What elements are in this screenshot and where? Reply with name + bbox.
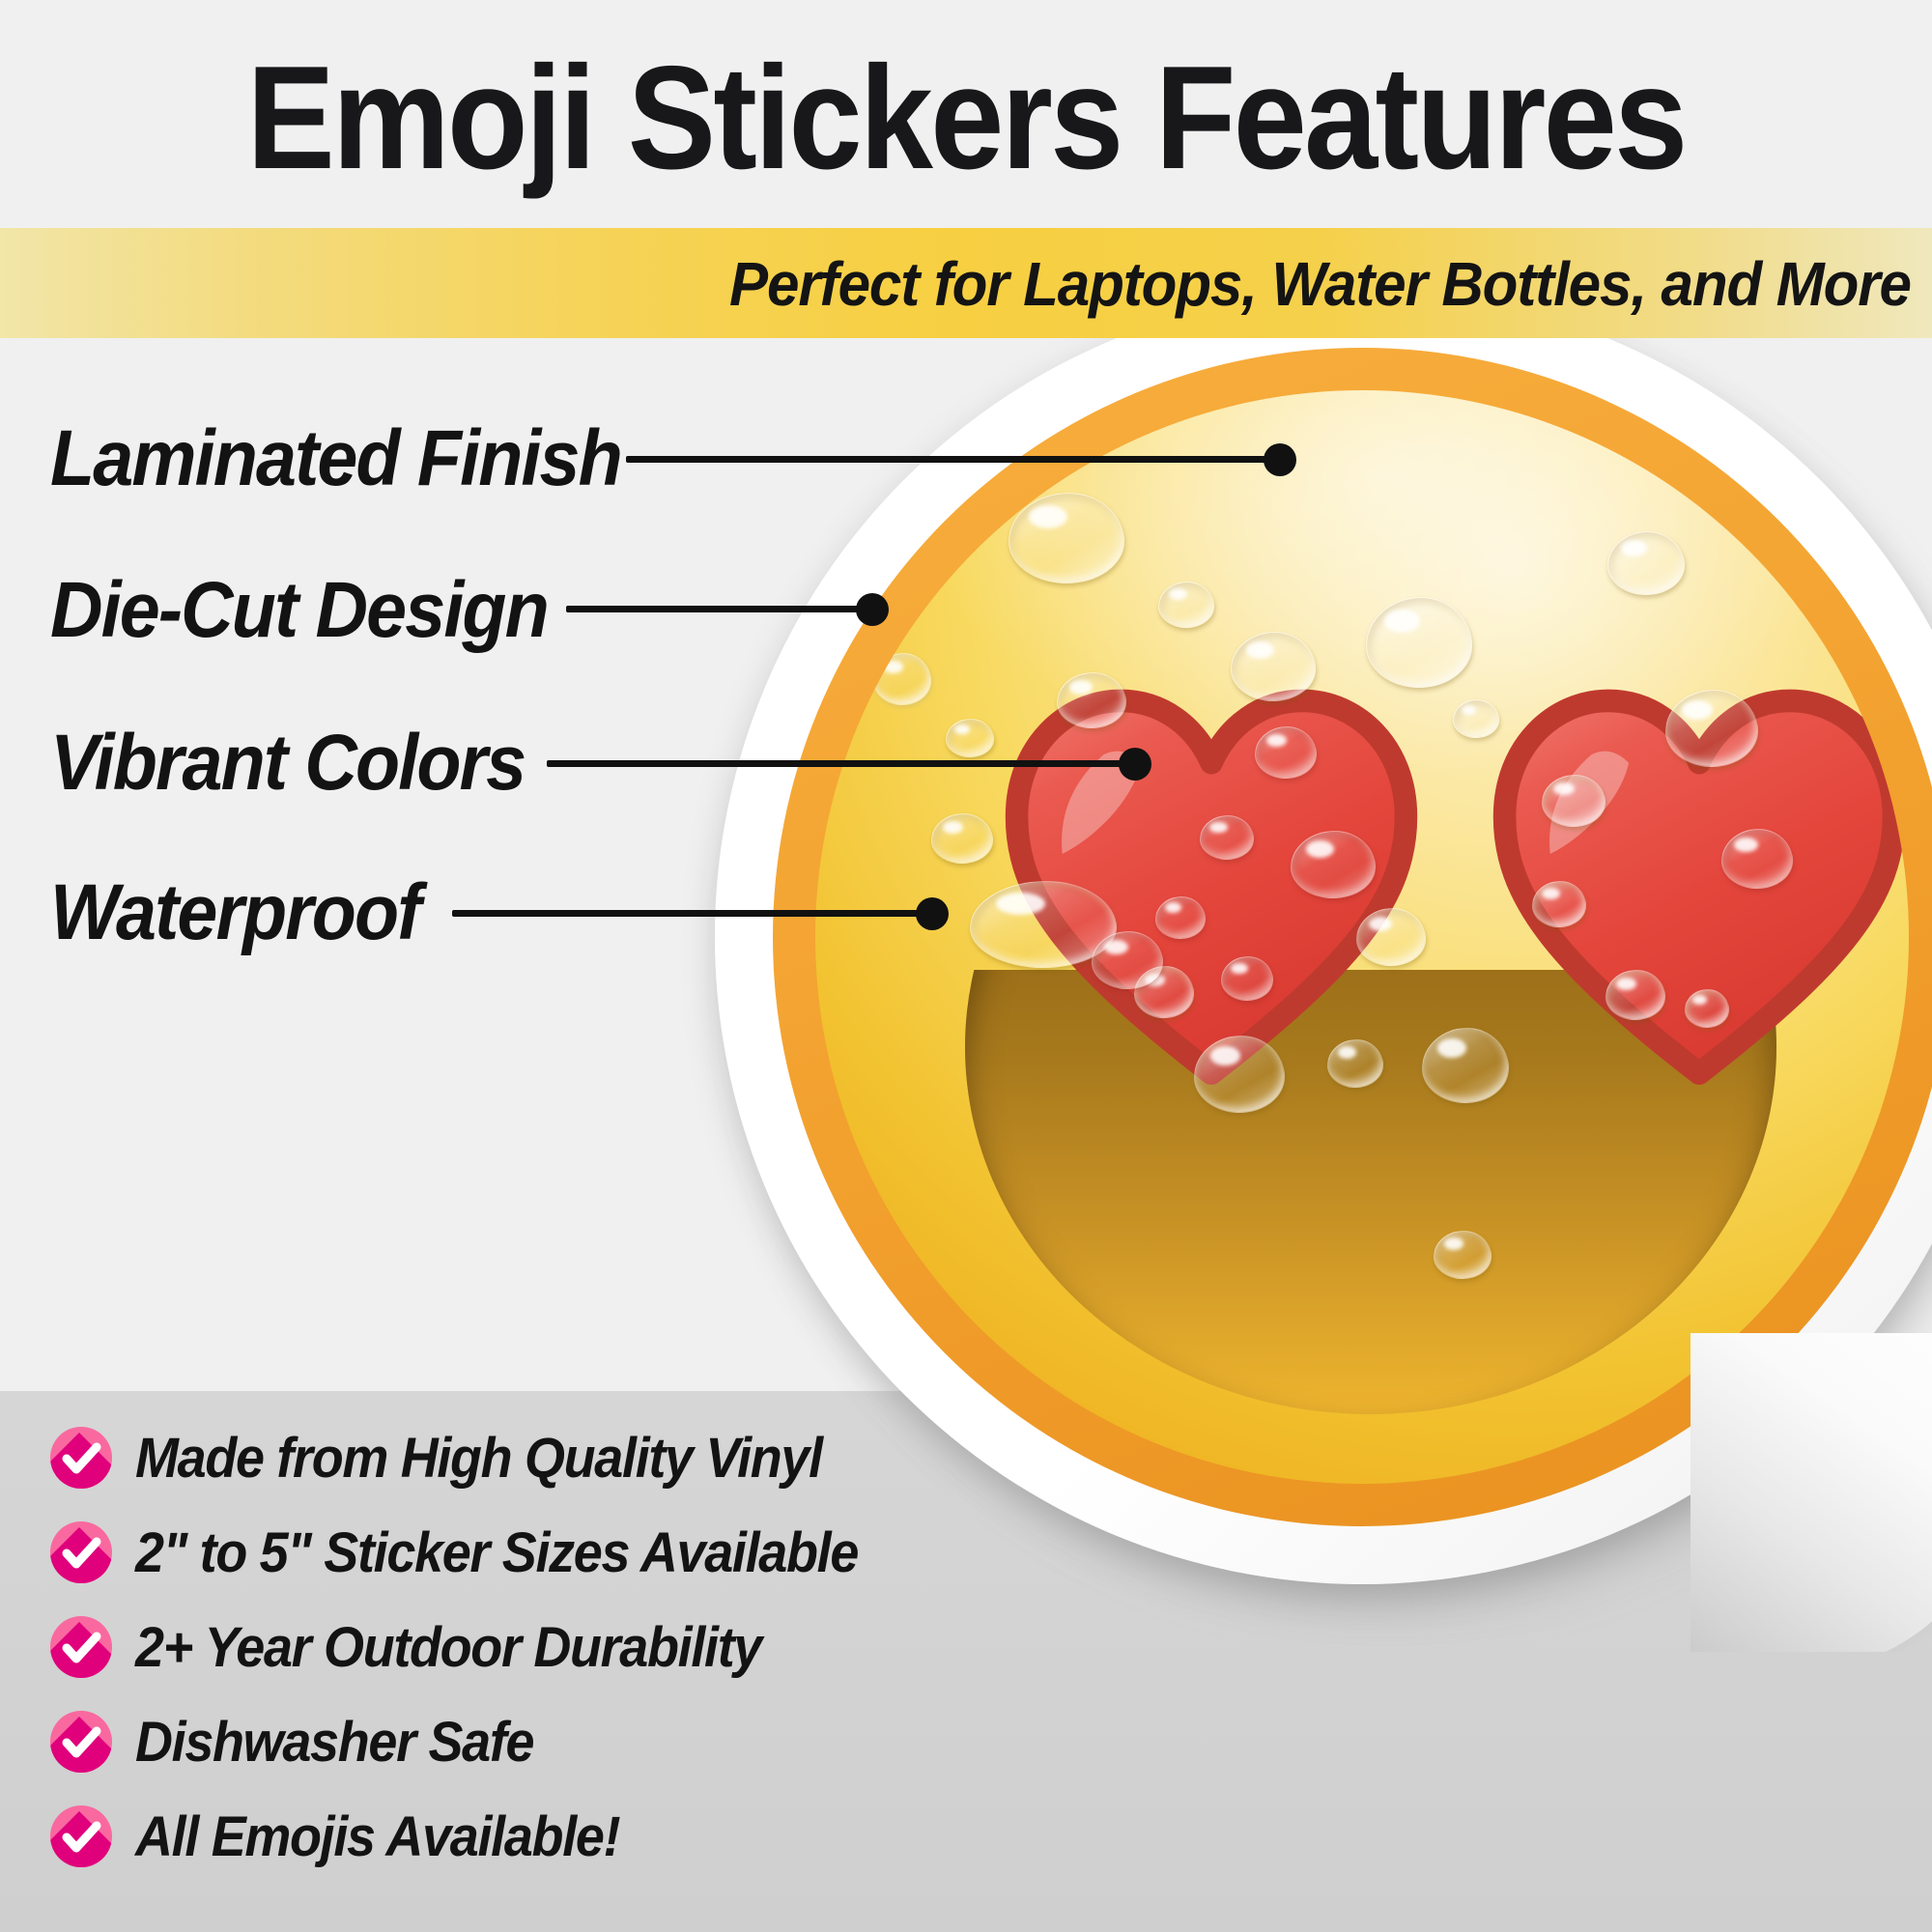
page-subtitle: Perfect for Laptops, Water Bottles, and … (729, 245, 1911, 323)
water-droplet (1434, 1231, 1492, 1279)
water-droplet (1607, 531, 1685, 595)
water-droplet (1158, 582, 1214, 628)
water-droplet (931, 813, 993, 864)
list-item: Made from High Quality Vinyl (50, 1422, 1209, 1493)
feature-row-die-cut-design: Die-Cut Design (50, 567, 591, 654)
water-droplet (1685, 989, 1729, 1028)
list-item-label: 2" to 5" Sticker Sizes Available (135, 1520, 858, 1585)
leader-dot-die-cut-design (856, 593, 889, 626)
water-droplet (1453, 699, 1499, 738)
list-item: Dishwasher Safe (50, 1706, 1209, 1777)
feature-row-laminated-finish: Laminated Finish (50, 415, 670, 502)
water-droplet (1366, 597, 1472, 688)
water-droplet (1155, 896, 1206, 939)
feature-checklist: Made from High Quality Vinyl 2" to 5" St… (50, 1422, 1209, 1895)
water-droplet (1542, 775, 1605, 827)
sticker-peel-corner (1690, 1333, 1932, 1652)
water-droplet (873, 653, 931, 705)
subtitle-band: Perfect for Laptops, Water Bottles, and … (0, 228, 1932, 338)
water-droplet (1255, 726, 1317, 779)
list-item: 2+ Year Outdoor Durability (50, 1611, 1209, 1683)
water-droplet (1221, 956, 1273, 1001)
water-droplet (1009, 493, 1124, 583)
emoji-face (815, 390, 1909, 1484)
leader-line-waterproof (452, 910, 947, 917)
leader-dot-waterproof (916, 897, 949, 930)
list-item: All Emojis Available! (50, 1801, 1209, 1872)
water-droplet (1194, 1036, 1285, 1113)
check-icon (50, 1711, 112, 1773)
water-droplet (1200, 815, 1254, 860)
leader-line-laminated-finish (626, 456, 1293, 463)
water-droplet (1057, 672, 1126, 728)
water-droplet (1231, 632, 1316, 701)
feature-label: Waterproof (50, 867, 420, 958)
list-item-label: Dishwasher Safe (135, 1710, 533, 1775)
check-icon (50, 1427, 112, 1489)
leader-line-vibrant-colors (547, 760, 1148, 767)
water-droplet (1665, 690, 1758, 767)
check-icon (50, 1616, 112, 1678)
feature-row-waterproof: Waterproof (50, 869, 452, 956)
leader-line-die-cut-design (566, 606, 875, 612)
list-item-label: 2+ Year Outdoor Durability (135, 1615, 761, 1680)
feature-label: Vibrant Colors (50, 718, 525, 809)
feature-row-vibrant-colors: Vibrant Colors (50, 720, 566, 807)
list-item: 2" to 5" Sticker Sizes Available (50, 1517, 1209, 1588)
check-icon (50, 1805, 112, 1867)
water-droplet (1532, 881, 1586, 927)
page-title: Emoji Stickers Features (97, 41, 1835, 196)
leader-dot-laminated-finish (1264, 443, 1296, 476)
feature-label: Laminated Finish (50, 413, 621, 504)
water-droplet (1291, 831, 1376, 898)
feature-label: Die-Cut Design (50, 565, 548, 656)
water-droplet (1605, 970, 1665, 1020)
check-icon (50, 1521, 112, 1583)
water-droplet (1422, 1028, 1509, 1103)
water-droplet (946, 719, 994, 757)
water-droplet (1327, 1039, 1383, 1088)
water-droplet (1092, 931, 1163, 989)
water-droplet (1721, 829, 1793, 889)
list-item-label: All Emojis Available! (135, 1804, 619, 1869)
list-item-label: Made from High Quality Vinyl (135, 1426, 822, 1491)
water-droplet (1356, 908, 1426, 966)
leader-dot-vibrant-colors (1119, 748, 1151, 781)
infographic-canvas: Emoji Stickers Features Perfect for Lapt… (0, 0, 1932, 1932)
